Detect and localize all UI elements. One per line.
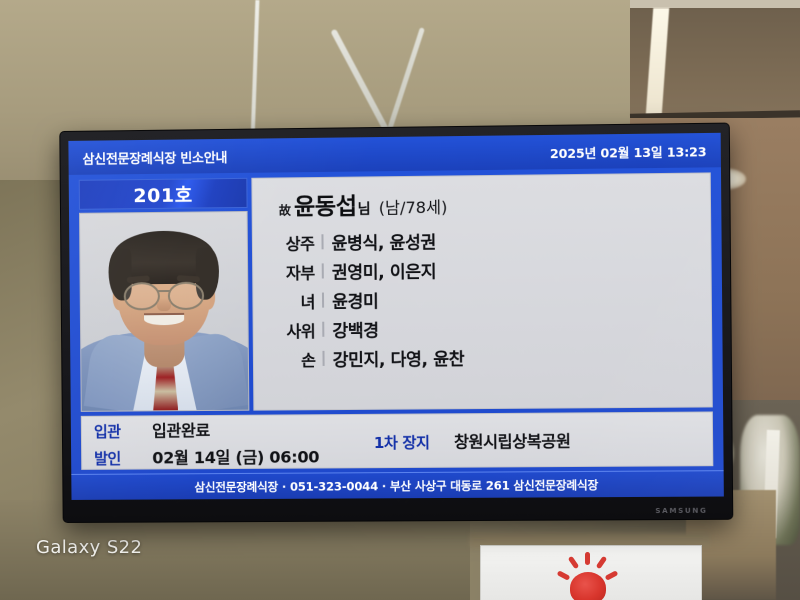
encoffin-row: 입관 입관완료: [94, 416, 319, 442]
burial-value: 창원시립상복공원: [454, 428, 571, 453]
alarm-light-icon: [556, 552, 618, 600]
deceased-portrait: [80, 212, 248, 411]
screen-footer: 삼신전문장례식장 · 051-323-0044 · 부산 사상구 대동로 261…: [71, 470, 724, 500]
relation-label: 손: [270, 346, 323, 371]
alarm-light-dome: [570, 572, 606, 600]
header-title: 삼신전문장례식장 빈소안내: [82, 146, 227, 167]
samsung-brand-logo: SAMSUNG: [655, 507, 707, 515]
relation-label: 사위: [270, 317, 323, 342]
details-panel: 故 윤동섭 님 (남/78세) 상주 윤병식, 윤성권: [251, 172, 712, 410]
burial-label: 1차 장지: [374, 432, 430, 453]
deceased-prefix: 故: [279, 201, 291, 218]
deceased-gender-age: (남/78세): [379, 194, 448, 219]
schedule-info-panel: 입관 입관완료 발인 02월 14일 (금) 06:00 1차 장지 창원시립상…: [81, 411, 714, 469]
deceased-name: 윤동섭: [294, 187, 357, 222]
encoffin-label: 입관: [94, 420, 140, 441]
relation-value: 권영미, 이은지: [332, 257, 437, 283]
relation-label: 상주: [269, 230, 322, 255]
departure-value: 02월 14일 (금) 06:00: [152, 443, 319, 468]
schedule-left-group: 입관 입관완료 발인 02월 14일 (금) 06:00: [94, 416, 320, 469]
relation-divider: [322, 293, 324, 308]
wall-mounted-tv: 삼신전문장례식장 빈소안내 2025년 02월 13일 13:23 201호: [60, 124, 732, 522]
relation-row: 자부 권영미, 이은지: [269, 254, 702, 285]
relation-divider: [321, 234, 323, 249]
ceiling-edge-trim: [630, 0, 800, 8]
departure-row: 발인 02월 14일 (금) 06:00: [94, 443, 319, 468]
relation-row: 사위 강백경: [270, 312, 703, 343]
relation-row: 녀 윤경미: [269, 283, 702, 314]
eyeglasses-left-lens: [124, 282, 160, 310]
relation-row: 손 강민지, 다영, 윤찬: [270, 342, 703, 373]
relation-value: 강백경: [332, 316, 378, 342]
screen-body: 201호: [69, 167, 724, 474]
relation-divider: [322, 322, 324, 337]
burial-group: 1차 장지 창원시립상복공원: [374, 428, 571, 453]
room-number-badge: 201호: [79, 178, 248, 210]
relations-list: 상주 윤병식, 윤성권 자부 권영미, 이은지: [269, 224, 703, 372]
deceased-name-line: 故 윤동섭 님 (남/78세): [269, 183, 702, 222]
relation-label: 자부: [269, 259, 322, 284]
photo-scene: Galaxy S22 삼신전문장례식장 빈소안내 2025년 02월 13일 1…: [0, 0, 800, 600]
encoffin-value: 입관완료: [152, 416, 210, 440]
relation-value: 윤병식, 윤성권: [331, 228, 436, 254]
portrait-photo-frame: [79, 211, 249, 412]
relation-divider: [322, 263, 324, 278]
relation-value: 강민지, 다영, 윤찬: [333, 345, 465, 371]
relation-divider: [322, 351, 324, 366]
left-column: 201호: [79, 178, 250, 412]
deceased-honorific: 님: [358, 199, 371, 219]
main-content-area: 201호: [79, 172, 713, 411]
tv-bezel: 삼신전문장례식장 빈소안내 2025년 02월 13일 13:23 201호: [60, 124, 732, 522]
relation-row: 상주 윤병식, 윤성권: [269, 224, 702, 256]
camera-watermark: Galaxy S22: [36, 537, 142, 558]
relation-label: 녀: [269, 288, 322, 313]
relation-value: 윤경미: [332, 287, 378, 313]
eyeglasses-right-lens: [168, 282, 204, 310]
departure-label: 발인: [94, 447, 140, 468]
header-datetime: 2025년 02월 13일 13:23: [550, 141, 707, 162]
tv-screen: 삼신전문장례식장 빈소안내 2025년 02월 13일 13:23 201호: [68, 133, 723, 500]
